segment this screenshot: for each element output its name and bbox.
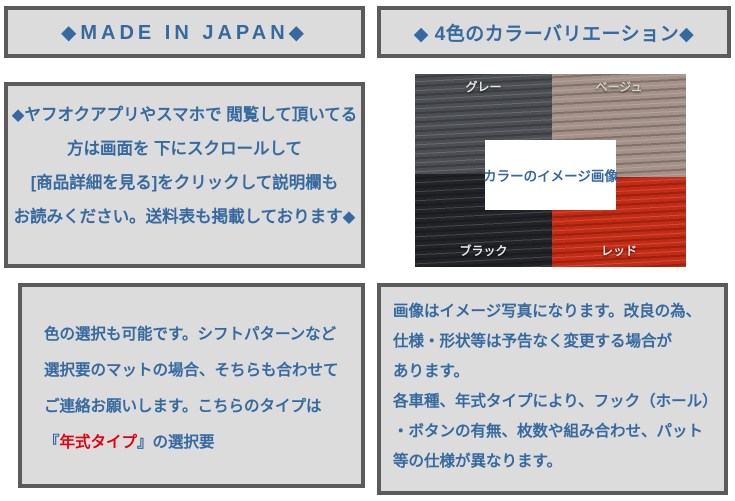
disclaimer-line-2: 仕様・形状等は予告なく変更する場合が: [393, 327, 718, 357]
disclaimer-line-3: あります。: [393, 357, 718, 387]
disclaimer-line-6: 等の仕様が異なります。: [393, 447, 718, 477]
notice-line-2: 方は画面を 下にスクロールして: [8, 132, 361, 166]
color-variation-banner: ◆ 4色のカラーバリエーション◆: [377, 6, 731, 58]
product-disclaimer-panel: 画像はイメージ写真になります。改良の為、 仕様・形状等は予告なく変更する場合が …: [377, 283, 728, 495]
color-note-line-2: 選択要のマットの場合、そちらも合わせて: [44, 353, 351, 389]
color-selection-note-panel: 色の選択も可能です。シフトパターンなど 選択要のマットの場合、そちらも合わせて …: [18, 283, 365, 488]
color-note-line-3: ご連絡お願いします。こちらのタイプは: [44, 389, 351, 425]
color-sample-photo: グレー ベージュ ブラック レッド カラーのイメージ画像: [415, 74, 686, 267]
notice-line-3: [商品詳細を見る]をクリックして説明欄も: [8, 166, 361, 200]
year-type-bracket-open: 『: [44, 434, 60, 451]
swatch-black-label: ブラック: [415, 242, 552, 259]
color-selection-note-text: 色の選択も可能です。シフトパターンなど 選択要のマットの場合、そちらも合わせて …: [44, 317, 351, 461]
color-image-overlay-text: カラーのイメージ画像: [483, 165, 618, 185]
viewing-notice-panel: ◆ヤフオクアプリやスマホで 閲覧して頂いてる 方は画面を 下にスクロールして […: [4, 82, 365, 268]
color-variation-banner-text: ◆ 4色のカラーバリエーション◆: [414, 19, 695, 46]
product-disclaimer-text: 画像はイメージ写真になります。改良の為、 仕様・形状等は予告なく変更する場合が …: [393, 297, 718, 477]
disclaimer-line-5: ・ボタンの有無、枚数や組み合わせ、パット: [393, 417, 718, 447]
disclaimer-line-4: 各車種、年式タイプにより、フック（ホール）: [393, 387, 718, 417]
swatch-grey-label: グレー: [415, 78, 552, 95]
color-image-overlay-caption: カラーのイメージ画像: [485, 140, 616, 210]
year-type-emphasis: 年式タイプ: [60, 434, 138, 451]
color-note-line-4: 『年式タイプ』の選択要: [44, 425, 351, 461]
swatch-red-label: レッド: [552, 242, 686, 259]
year-type-bracket-close: 』の選択要: [137, 434, 215, 451]
disclaimer-line-1: 画像はイメージ写真になります。改良の為、: [393, 297, 718, 327]
made-in-japan-banner-text: ◆MADE IN JAPAN◆: [61, 20, 308, 45]
made-in-japan-banner: ◆MADE IN JAPAN◆: [4, 6, 365, 58]
notice-line-1: ◆ヤフオクアプリやスマホで 閲覧して頂いてる: [8, 98, 361, 132]
notice-line-4: お読みください。送料表も掲載しております◆: [8, 200, 361, 234]
swatch-beige-label: ベージュ: [552, 78, 686, 95]
product-listing-image: ◆MADE IN JAPAN◆ ◆ 4色のカラーバリエーション◆ ◆ヤフオクアプ…: [0, 0, 735, 501]
color-note-line-1: 色の選択も可能です。シフトパターンなど: [44, 317, 351, 353]
viewing-notice-text: ◆ヤフオクアプリやスマホで 閲覧して頂いてる 方は画面を 下にスクロールして […: [8, 98, 361, 234]
